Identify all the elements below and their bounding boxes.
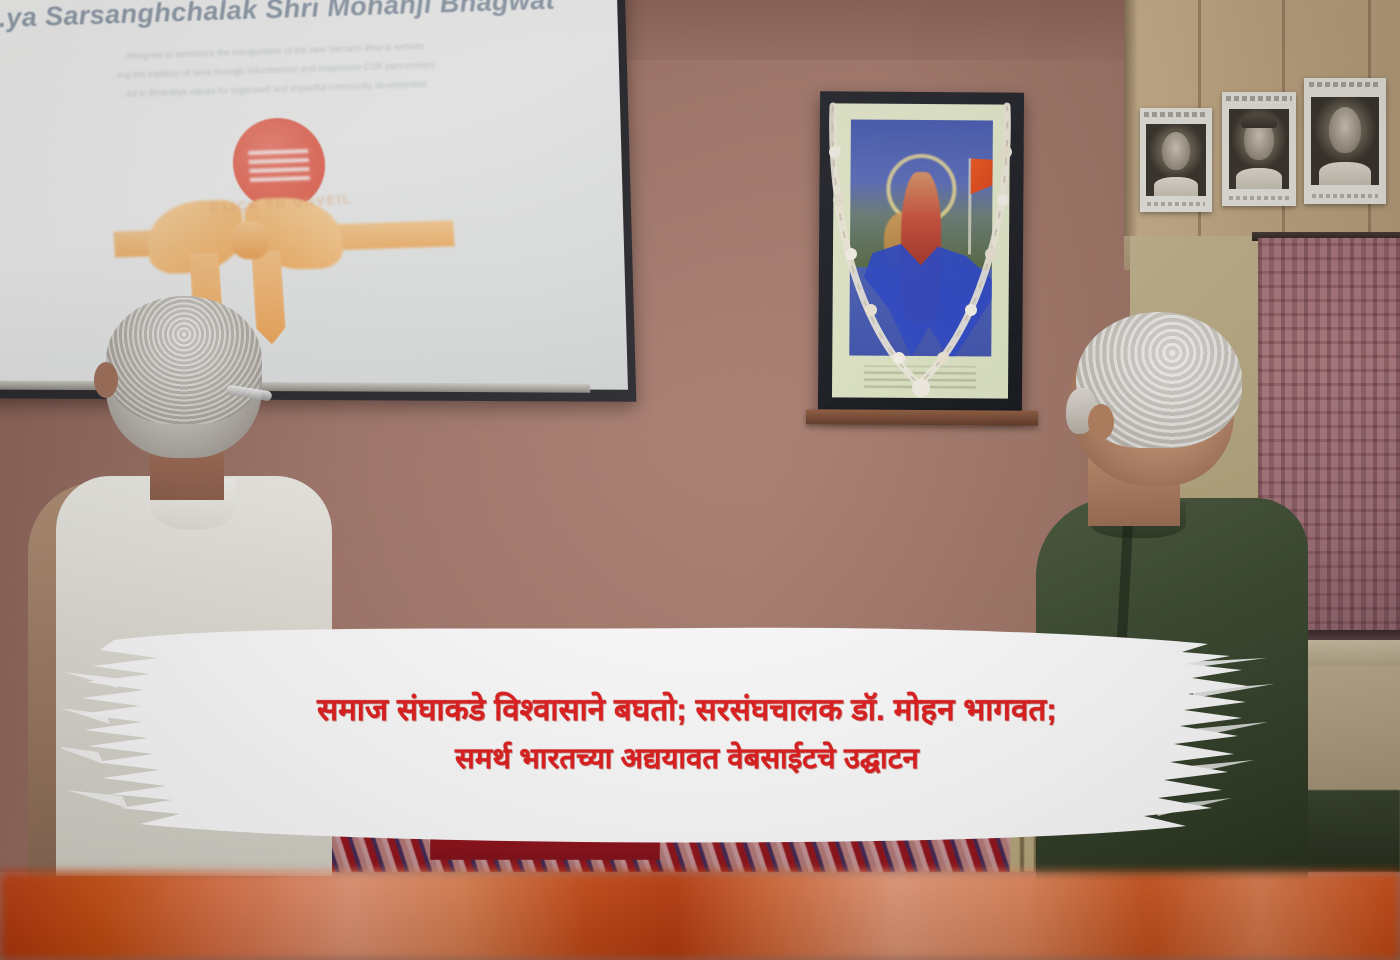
person-left-ear (94, 362, 118, 398)
founder-portrait-2 (1222, 92, 1296, 206)
headline-banner: समाज संघाकडे विश्वासाने बघतो; सरसंघचालक … (62, 618, 1312, 850)
bharat-mata-framed-picture (818, 91, 1024, 412)
portrait-photo (1311, 97, 1378, 185)
portrait-shoulders (1236, 168, 1282, 189)
ribbon-knot (231, 220, 269, 259)
portrait-photo (1146, 124, 1205, 197)
india-map-outline (863, 244, 993, 357)
founder-portrait-3 (1304, 78, 1386, 204)
portrait-caption-bottom (1312, 194, 1378, 198)
ribbon-bow-graphic (110, 174, 458, 305)
portrait-caption-top (1309, 82, 1381, 87)
artwork-caption (864, 366, 977, 389)
badge-glyph (248, 146, 310, 182)
headline-line-1: समाज संघाकडे विश्वासाने बघतो; सरसंघचालक … (317, 692, 1057, 729)
saffron-flag-icon (970, 158, 993, 194)
portrait-gandhi-cap (1241, 114, 1277, 128)
founder-portrait-1 (1140, 108, 1212, 212)
portrait-caption-bottom (1229, 196, 1288, 200)
wall-panel-shadow (1124, 0, 1138, 236)
portrait-face (1162, 132, 1190, 170)
person-left-hair (106, 296, 262, 424)
portrait-caption-bottom (1147, 202, 1205, 206)
slide-subtitle: ...ya Sarsanghchalak Shri Mohanji Bhagwa… (0, 0, 586, 37)
portrait-caption-top (1144, 112, 1207, 117)
portrait-caption-top (1226, 96, 1291, 101)
portrait-photo (1229, 109, 1290, 189)
news-photo-stage: Website Inauguration Ceremony by ...ya S… (0, 0, 1400, 960)
bharat-mata-artwork (849, 120, 993, 357)
portrait-shoulders (1319, 162, 1370, 185)
picture-mat (832, 103, 1010, 398)
picture-wall-shelf (806, 409, 1038, 426)
blurred-orange-strip-overlay (0, 872, 1400, 960)
person-right-ear (1088, 404, 1114, 440)
portrait-shoulders (1154, 177, 1199, 196)
headline-line-2: समर्थ भारतच्या अद्ययावत वेबसाईटचे उद्घाट… (455, 742, 919, 776)
portrait-face (1329, 107, 1361, 153)
headline-text-block: समाज संघाकडे विश्वासाने बघतो; सरसंघचालक … (62, 618, 1312, 850)
